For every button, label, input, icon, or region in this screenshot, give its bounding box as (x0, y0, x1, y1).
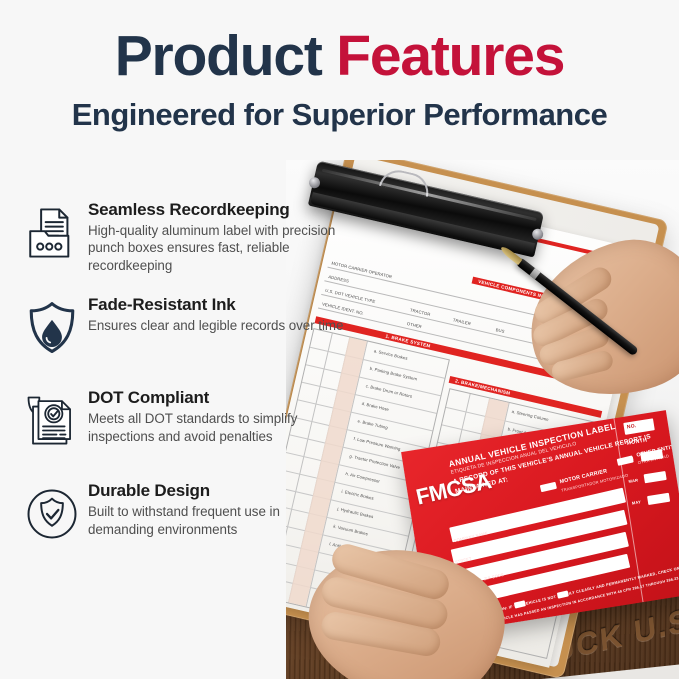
feature-list: Seamless Recordkeeping High-quality alum… (16, 196, 348, 570)
feature-text-block: Durable Design Built to withstand freque… (88, 477, 348, 538)
feature-text-block: DOT Compliant Meets all DOT standards to… (88, 384, 348, 445)
fmcsa-checkbox-motor-carrier (540, 482, 557, 492)
header-block: Product Features Engineered for Superior… (0, 0, 679, 133)
feature-title: Seamless Recordkeeping (88, 200, 348, 220)
document-folder-icon (16, 196, 88, 270)
feature-item-seamless-recordkeeping: Seamless Recordkeeping High-quality alum… (16, 196, 348, 274)
documents-shield-check-icon (16, 384, 88, 458)
fmcsa-option-box-2 (514, 600, 526, 608)
page-title-word-2: Features (336, 24, 564, 88)
feature-description: Ensures clear and legible records over t… (88, 317, 343, 334)
feature-item-fade-resistant-ink: Fade-Resistant Ink Ensures clear and leg… (16, 291, 348, 367)
circle-shield-check-icon (16, 477, 88, 551)
product-features-infographic: BUCK U.S. ANNUAL VEHICLE INSPECTION REPO… (0, 0, 679, 679)
feature-description: High-quality aluminum label with precisi… (88, 222, 348, 274)
feature-title: DOT Compliant (88, 388, 348, 408)
feature-title: Fade-Resistant Ink (88, 295, 343, 315)
feature-description: Built to withstand frequent use in deman… (88, 503, 348, 538)
fmcsa-month-column: NO. MONTH JAN MAR MAY (613, 410, 679, 602)
feature-item-dot-compliant: DOT Compliant Meets all DOT standards to… (16, 384, 348, 460)
feature-description: Meets all DOT standards to simplify insp… (88, 410, 348, 445)
feature-text-block: Seamless Recordkeeping High-quality alum… (88, 196, 348, 274)
page-title: Product Features (0, 0, 679, 87)
feature-item-durable-design: Durable Design Built to withstand freque… (16, 477, 348, 553)
fmcsa-month-jan: JAN (625, 456, 634, 462)
fmcsa-month-header: MONTH (626, 438, 647, 447)
fmcsa-month-may: MAY (632, 499, 642, 505)
shield-ink-drop-icon (16, 291, 88, 365)
feature-title: Durable Design (88, 481, 348, 501)
page-subtitle: Engineered for Superior Performance (0, 87, 679, 133)
page-title-word-1: Product (115, 24, 322, 88)
feature-text-block: Fade-Resistant Ink Ensures clear and leg… (88, 291, 343, 334)
fmcsa-option-box-3 (557, 590, 569, 598)
fmcsa-month-mar: MAR (628, 477, 638, 483)
